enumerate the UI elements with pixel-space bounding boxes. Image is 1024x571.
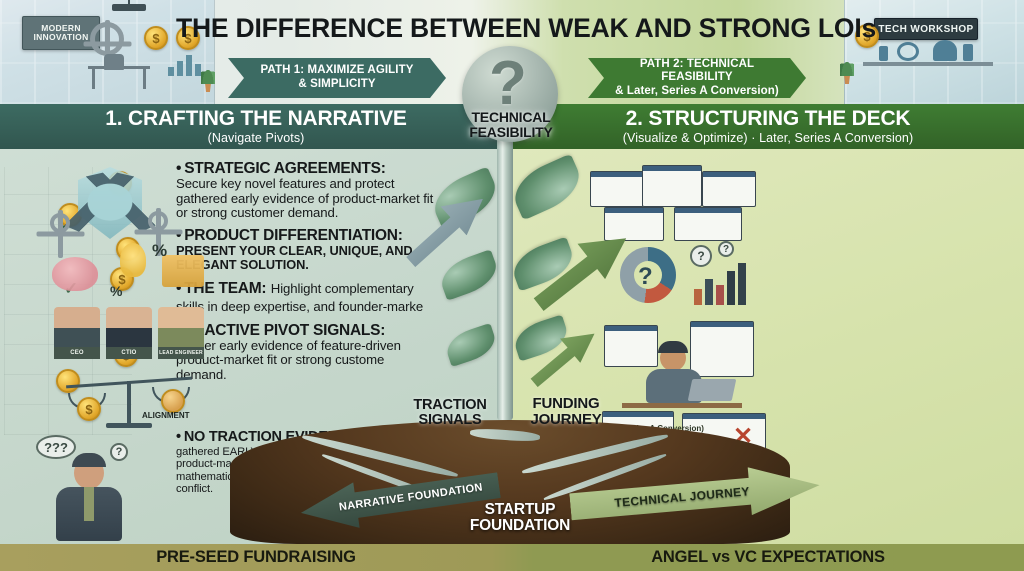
path-1-line-2: & SIMPLICITY bbox=[298, 78, 375, 92]
team-member-avatar: CEO bbox=[54, 307, 100, 359]
thought-bubble: ? bbox=[110, 443, 128, 461]
technical-journey-label: TECHNICAL JOURNEY bbox=[614, 484, 750, 510]
slide-thumbnail bbox=[604, 207, 664, 241]
scales-icon: $ ALIGNMENT bbox=[66, 367, 192, 429]
gear-icon bbox=[148, 211, 168, 231]
plant-icon bbox=[839, 58, 855, 84]
tool-icon bbox=[879, 46, 888, 61]
worker-at-desk-illustration bbox=[604, 321, 754, 417]
gear-icon bbox=[90, 22, 124, 56]
bar-chart-icon bbox=[168, 52, 202, 76]
bullet-dot: • bbox=[176, 429, 181, 445]
path-2-banner: PATH 2: TECHNICAL FEASIBILITY & Later, S… bbox=[588, 58, 806, 98]
slide-thumbnail bbox=[702, 171, 756, 207]
plant-icon bbox=[200, 66, 216, 92]
device-icon bbox=[933, 40, 957, 61]
ceiling-lamp-icon bbox=[112, 4, 146, 11]
section-right-title: 2. STRUCTURING THE DECK bbox=[626, 108, 911, 129]
section-header-left: 1. CRAFTING THE NARRATIVE (Navigate Pivo… bbox=[0, 104, 512, 149]
person-hair bbox=[72, 453, 106, 467]
percent-icon: % bbox=[152, 241, 167, 261]
technical-feasibility-label: TECHNICAL FEASIBILITY bbox=[446, 110, 576, 139]
bullet-item: •PRODUCT DIFFERENTIATION: PRESENT YOUR C… bbox=[176, 228, 438, 273]
alignment-label: ALIGNMENT bbox=[142, 411, 190, 420]
path-1-line-1: PATH 1: MAXIMIZE AGILITY bbox=[261, 64, 414, 78]
bullet-item: •STRATEGIC AGREEMENTS: Secure key novel … bbox=[176, 161, 438, 221]
brain-icon bbox=[52, 257, 98, 291]
tool-icon bbox=[963, 44, 973, 61]
laptop-icon bbox=[688, 379, 737, 401]
gear-icon bbox=[50, 213, 70, 233]
folder-icon bbox=[162, 255, 204, 287]
bullet-body: PRESENT YOUR CLEAR, UNIQUE, AND ELEGANT … bbox=[176, 244, 438, 272]
thought-bubble: ? bbox=[690, 245, 712, 267]
team-role-label: CTIO bbox=[106, 347, 152, 359]
bullet-heading: •STRATEGIC AGREEMENTS: bbox=[176, 161, 438, 177]
bullet-heading-text: TRACTIVE PIVOT SIGNALS: bbox=[184, 322, 385, 339]
section-header-right: 2. STRUCTURING THE DECK (Visualize & Opt… bbox=[512, 104, 1024, 149]
question-mark-icon: ? bbox=[638, 263, 653, 291]
person-hair bbox=[658, 341, 688, 353]
technical-feasibility-text: TECHNICAL FEASIBILITY bbox=[469, 109, 552, 140]
slide-deck-illustration bbox=[590, 165, 760, 245]
worried-founder-illustration: ??? ? bbox=[34, 435, 126, 541]
path-1-banner: PATH 1: MAXIMIZE AGILITY & SIMPLICITY bbox=[228, 58, 446, 98]
team-member-avatar: CTIO bbox=[106, 307, 152, 359]
thought-bubble: ??? bbox=[36, 435, 76, 459]
slide-thumbnail bbox=[590, 171, 644, 207]
robot-arm-icon bbox=[897, 42, 919, 61]
team-member-avatar: LEAD ENGINEER bbox=[158, 307, 204, 359]
slide-thumbnail bbox=[604, 325, 658, 367]
footer-left-label: PRE-SEED FUNDRAISING bbox=[0, 548, 512, 567]
person-tie bbox=[84, 487, 94, 521]
bullet-heading-text: PRODUCT DIFFERENTIATION: bbox=[184, 227, 402, 244]
team-role-label: LEAD ENGINEER bbox=[158, 347, 204, 359]
bullet-body: Secure key novel features and protect ga… bbox=[176, 177, 438, 221]
coin-icon: $ bbox=[144, 26, 168, 50]
coin-icon: $ bbox=[77, 397, 101, 421]
chair-icon bbox=[104, 54, 124, 70]
slide-thumbnail bbox=[642, 165, 702, 207]
section-left-title: 1. CRAFTING THE NARRATIVE bbox=[105, 108, 406, 129]
team-illustration: CEO CTIO LEAD ENGINEER bbox=[54, 307, 204, 359]
bullet-item: •THE TEAM: Highlight complementary skill… bbox=[176, 280, 438, 316]
footer-bar: PRE-SEED FUNDRAISING ANGEL vs VC EXPECTA… bbox=[0, 544, 1024, 571]
path-2-line-1: PATH 2: TECHNICAL FEASIBILITY bbox=[614, 58, 780, 85]
workbench-icon bbox=[863, 62, 993, 66]
plant-stem bbox=[497, 120, 513, 420]
bullet-item: •TRACTIVE PIVOT SIGNALS: Gather early ev… bbox=[176, 323, 438, 383]
bullet-dot: • bbox=[176, 160, 181, 177]
bullet-heading-text: STRATEGIC AGREEMENTS: bbox=[184, 160, 385, 177]
bullet-body: Gather early evidence of feature-driven … bbox=[176, 339, 438, 383]
startup-foundation-label: STARTUP FOUNDATION bbox=[450, 502, 590, 534]
funding-journey-label: FUNDING JOURNEY bbox=[522, 396, 610, 427]
bullet-heading: •PRODUCT DIFFERENTIATION: bbox=[176, 228, 438, 244]
traction-signals-label: TRACTION SIGNALS bbox=[404, 398, 496, 428]
path-2-line-2: & Later, Series A Conversion) bbox=[615, 85, 779, 99]
team-role-label: CEO bbox=[54, 347, 100, 359]
scale-base bbox=[106, 423, 152, 428]
section-right-subtitle: (Visualize & Optimize) · Later, Series A… bbox=[623, 131, 914, 145]
flowchart-slide bbox=[690, 321, 754, 377]
footer-right-label: ANGEL vs VC EXPECTATIONS bbox=[512, 548, 1024, 567]
lightbulb-icon bbox=[120, 243, 146, 277]
section-left-subtitle: (Navigate Pivots) bbox=[208, 131, 305, 145]
tech-workshop-sign: TECH WORKSHOP bbox=[874, 18, 978, 40]
coin-icon bbox=[161, 389, 185, 413]
percent-icon: % bbox=[110, 283, 122, 299]
scale-post bbox=[127, 381, 131, 425]
desk-surface bbox=[622, 403, 742, 408]
infographic-poster: MODERN INNOVATION $ $ TECH WORKSHOP $ TH… bbox=[0, 0, 1024, 571]
page-title: THE DIFFERENCE BETWEEN WEAK AND STRONG L… bbox=[196, 6, 856, 50]
slide-thumbnail bbox=[674, 207, 742, 241]
bullet-heading: •THE TEAM: Highlight complementary skill… bbox=[176, 280, 438, 316]
thought-bubble: ? bbox=[718, 241, 734, 257]
bullet-heading: •TRACTIVE PIVOT SIGNALS: bbox=[176, 323, 438, 339]
